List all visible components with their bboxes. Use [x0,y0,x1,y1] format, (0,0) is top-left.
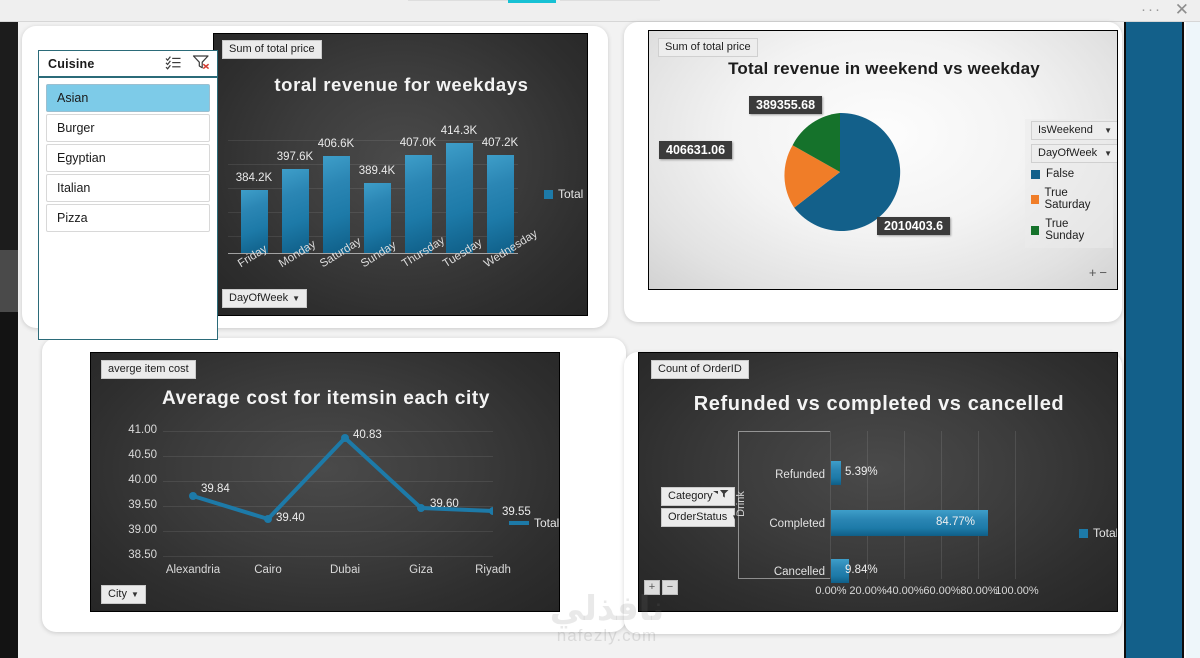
gridline [978,431,979,579]
slicer-item-burger[interactable]: Burger [46,114,210,142]
legend-swatch [1031,195,1039,204]
x-tick-label: Riyadh [453,564,533,576]
slicer-item-pizza[interactable]: Pizza [46,204,210,232]
more-options-icon[interactable]: ··· [1141,3,1162,17]
y-tick-label: 38.50 [111,549,157,561]
slicer-item-egyptian[interactable]: Egyptian [46,144,210,172]
x-tick-label: Cairo [228,564,308,576]
right-gutter [1186,22,1200,658]
category-label: Completed [740,518,825,530]
rail-segment-highlight [0,250,18,312]
chart-title: Total revenue in weekend vs weekday [649,59,1118,79]
chart-title: Refunded vs completed vs cancelled [639,393,1118,416]
pivot-field-category[interactable]: Category [661,487,735,506]
chart-legend: Total [1079,526,1118,540]
y-tick-label: 40.00 [111,474,157,486]
hbar-refunded[interactable] [831,461,841,485]
y-tick-label: 39.00 [111,524,157,536]
x-tick-label: 40.00% [885,585,925,597]
pivot-field-orderstatus[interactable]: OrderStatus▼ [661,508,735,527]
pivot-field-dayofweek[interactable]: DayOfWeek▼ [1031,144,1118,163]
tab-ghost-right [560,0,660,1]
bar-value-label: 5.39% [845,466,878,478]
x-tick-label: 100.00% [995,585,1039,597]
zoom-controls[interactable]: + − [1089,267,1107,279]
bar-chart-weekday-revenue[interactable]: Sum of total price toral revenue for wee… [213,33,588,316]
field-label: DayOfWeek [1038,146,1097,161]
close-icon[interactable]: ✕ [1175,0,1189,20]
clear-filter-icon[interactable] [192,54,211,70]
bar-value-label: 407.0K [383,137,453,149]
pivot-field-sum-total-price[interactable]: Sum of total price [658,38,758,57]
x-tick-label: Alexandria [153,564,233,576]
category-axis-box [738,431,830,579]
legend-swatch [509,521,529,525]
dashboard-canvas: Cuisine [18,22,1124,658]
point-value-label: 39.60 [430,498,459,510]
field-label: Category [668,489,713,504]
slicer-item-label: Asian [57,91,88,105]
slicer-item-italian[interactable]: Italian [46,174,210,202]
zoom-in-icon[interactable]: + [1089,267,1097,279]
x-tick-label: 80.00% [959,585,999,597]
pie-data-label-saturday: 406631.06 [659,141,732,159]
active-tab-indicator [508,0,556,3]
slicer-header: Cuisine [39,51,217,78]
legend-item-true-sunday: True Sunday [1031,218,1105,242]
excel-dashboard-window: ··· ✕ Cuisine [0,0,1200,658]
y-tick-label: 41.00 [111,424,157,436]
x-tick-label: 20.00% [848,585,888,597]
x-tick-label: 60.00% [922,585,962,597]
legend-swatch [1031,226,1039,235]
bar-tuesday[interactable] [446,143,473,253]
window-titlebar: ··· ✕ [0,0,1200,22]
collapse-field-button[interactable]: − [662,580,678,595]
legend-swatch [1079,529,1088,538]
slicer-item-label: Egyptian [57,151,106,165]
pie-legend-panel: IsWeekend▼ DayOfWeek▼ False True Saturda… [1025,119,1113,248]
pivot-field-count-of-orderid[interactable]: Count of OrderID [651,360,749,379]
zoom-out-icon[interactable]: − [1099,267,1107,279]
legend-label: True Saturday [1045,187,1105,211]
point-value-label: 39.40 [276,512,305,524]
chart-title: Average cost for itemsin each city [91,388,560,410]
legend-label: True Sunday [1045,218,1105,242]
bar-value-label: 406.6K [301,138,371,150]
y-tick-label: 39.50 [111,499,157,511]
legend-item-false: False [1031,168,1105,180]
cuisine-slicer[interactable]: Cuisine [38,50,218,340]
pivot-field-city[interactable]: City▼ [101,585,146,604]
bar-chart-order-status[interactable]: Count of OrderID Refunded vs completed v… [638,352,1118,612]
pivot-field-average-item-cost[interactable]: averge item cost [101,360,196,379]
gridline [867,431,868,579]
field-label: IsWeekend [1038,123,1093,138]
bar-value-label: 384.2K [219,172,289,184]
pivot-field-sum-total-price[interactable]: Sum of total price [222,40,322,59]
category-label: Cancelled [740,566,825,578]
bar-wednesday[interactable] [487,155,514,253]
gridline [941,431,942,579]
chevron-down-icon: ▼ [292,294,300,303]
filter-funnel-icon[interactable] [713,489,729,504]
x-tick-label: Giza [381,564,461,576]
legend-swatch [544,190,553,199]
bar-value-label: 407.2K [465,137,535,149]
chart-legend: Total [544,187,583,201]
legend-label: Total [534,516,559,530]
field-label: DayOfWeek [229,292,288,304]
pivot-field-isweekend[interactable]: IsWeekend▼ [1031,121,1118,140]
legend-swatch [1031,170,1040,179]
legend-label: Total [558,187,583,201]
slicer-item-label: Pizza [57,211,88,225]
field-label: City [108,588,127,600]
tab-ghost-left [408,0,508,1]
slicer-item-list: Asian Burger Egyptian Italian Pizza [39,78,217,232]
slicer-title: Cuisine [48,57,95,71]
category-label: Refunded [740,469,825,481]
point-value-label: 40.83 [353,429,382,441]
gridline [830,431,831,579]
legend-item-true-saturday: True Saturday [1031,187,1105,211]
point-value-label: 39.84 [201,483,230,495]
left-sidebar-rail [0,22,18,658]
line-chart-avg-cost-per-city[interactable]: averge item cost Average cost for itemsi… [90,352,560,612]
legend-label: False [1046,168,1074,180]
right-side-panel [1124,22,1184,658]
legend-label: Total [1093,526,1118,540]
gridline [1015,431,1016,579]
slicer-item-label: Italian [57,181,90,195]
rail-segment-lower [0,312,18,658]
expand-field-button[interactable]: + [644,580,660,595]
bar-value-label: 397.6K [260,151,330,163]
x-tick-label: 0.00% [811,585,851,597]
pie-chart-weekend-vs-weekday[interactable]: Sum of total price Total revenue in week… [648,30,1118,290]
expand-collapse-controls[interactable]: + − [644,580,678,595]
bar-value-label: 84.77% [936,516,975,528]
pie-data-label-false: 2010403.6 [877,217,950,235]
chevron-down-icon: ▼ [1104,123,1112,138]
slicer-item-label: Burger [57,121,95,135]
chevron-down-icon: ▼ [1104,146,1112,161]
multi-select-icon[interactable] [165,55,182,70]
y-tick-label: 40.50 [111,449,157,461]
gridline [904,431,905,579]
bar-value-label: 414.3K [424,125,494,137]
x-tick-label: Dubai [305,564,385,576]
chart-title: toral revenue for weekdays [214,74,588,96]
chevron-down-icon: ▼ [731,510,739,525]
chevron-down-icon: ▼ [131,590,139,599]
bar-value-label: 389.4K [342,165,412,177]
pivot-field-dayofweek[interactable]: DayOfWeek▼ [222,289,307,308]
pie-data-label-sunday: 389355.68 [749,96,822,114]
field-label: OrderStatus [668,510,727,525]
slicer-item-asian[interactable]: Asian [46,84,210,112]
chart-legend: Total [509,516,559,530]
bar-value-label: 9.84% [845,564,878,576]
